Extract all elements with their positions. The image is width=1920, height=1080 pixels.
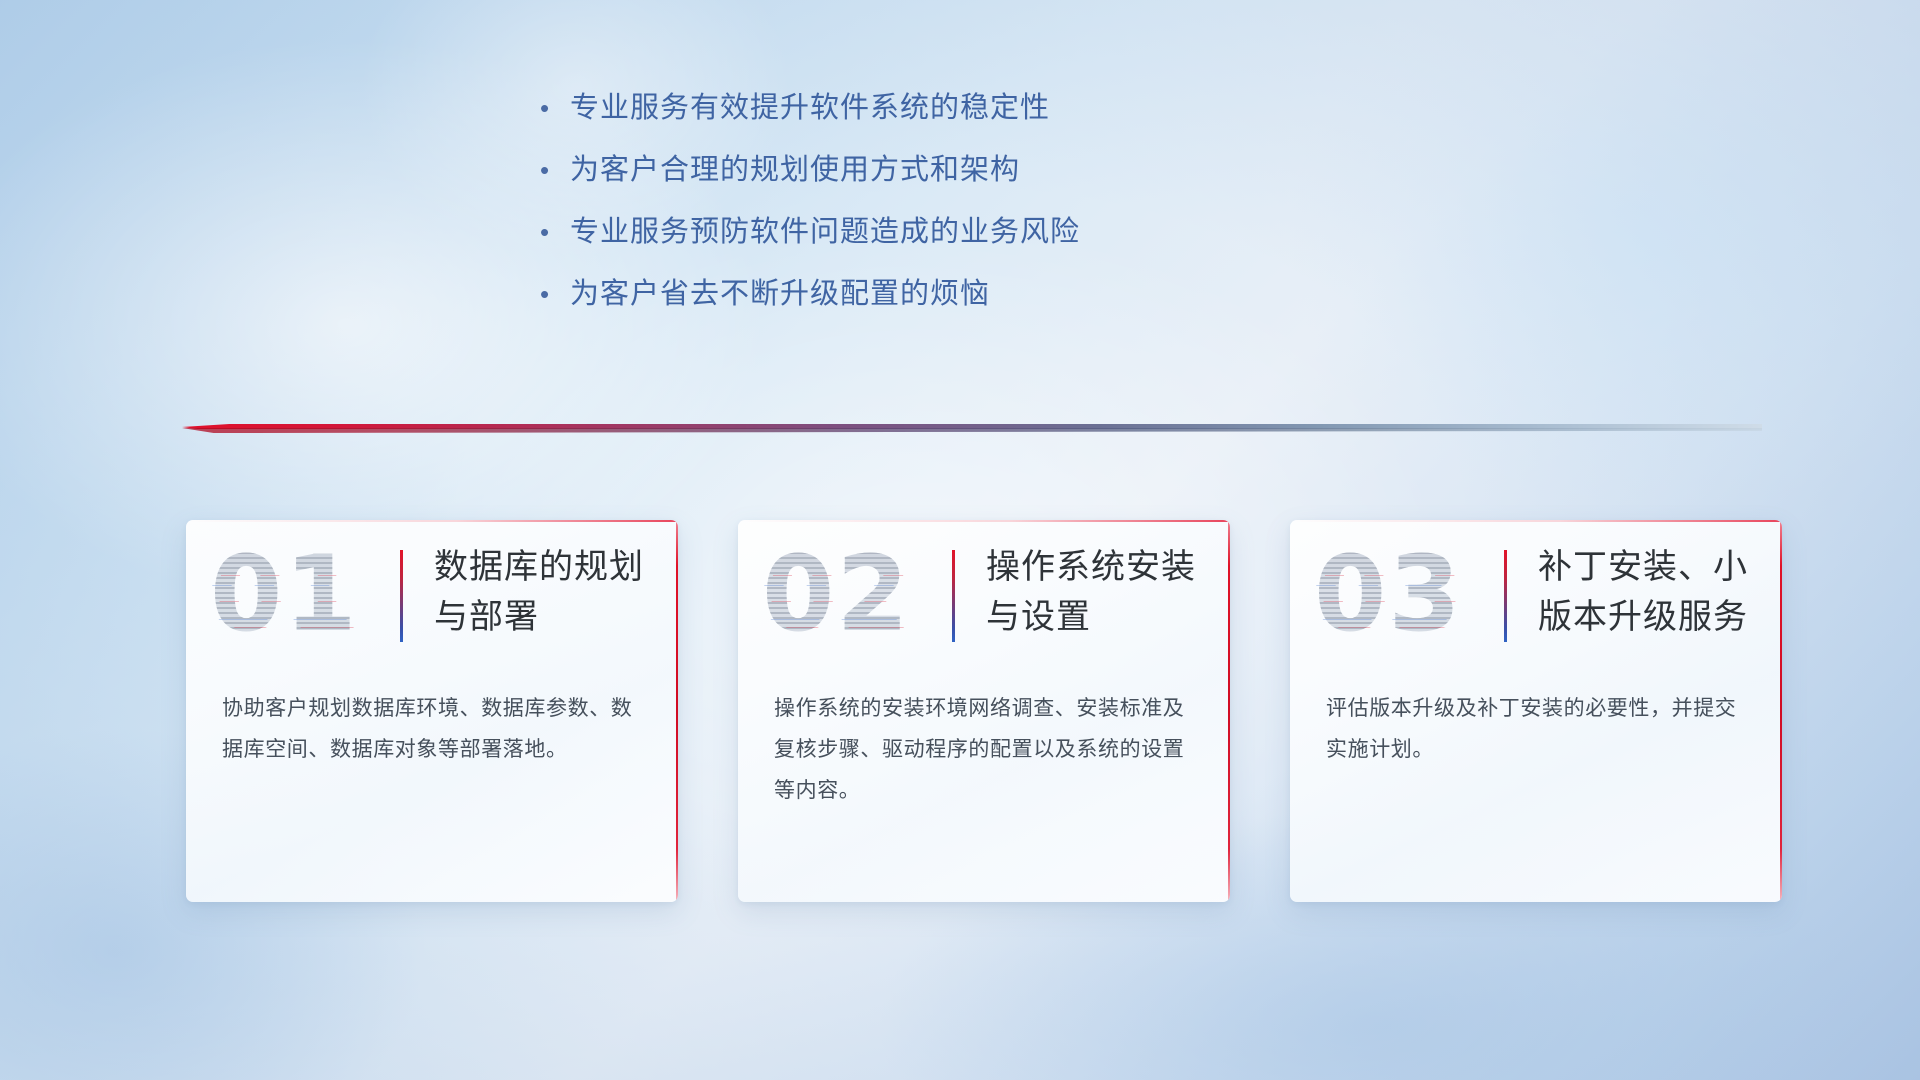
bullet-text: 为客户合理的规划使用方式和架构 (570, 150, 1020, 190)
list-item: • 专业服务有效提升软件系统的稳定性 (540, 88, 1240, 128)
bullet-list: • 专业服务有效提升软件系统的稳定性 • 为客户合理的规划使用方式和架构 • 专… (540, 88, 1240, 336)
list-item: • 为客户省去不断升级配置的烦恼 (540, 274, 1240, 314)
section-divider (182, 424, 1762, 438)
card-header: 01 01 01 数据库的规划 与部署 (186, 520, 678, 670)
card-number-ghost-blue: 02 (759, 534, 908, 654)
bullet-marker-icon: • (540, 88, 570, 128)
card-02[interactable]: 02 02 02 操作系统安装 与设置 操作系统的安装环境网络调查、安装标准及复… (738, 520, 1230, 902)
card-body-text: 操作系统的安装环境网络调查、安装标准及复核步骤、驱动程序的配置以及系统的设置等内… (774, 688, 1194, 811)
list-item: • 为客户合理的规划使用方式和架构 (540, 150, 1240, 190)
card-body-text: 协助客户规划数据库环境、数据库参数、数据库空间、数据库对象等部署落地。 (222, 688, 642, 770)
list-item: • 专业服务预防软件问题造成的业务风险 (540, 212, 1240, 252)
bullet-marker-icon: • (540, 274, 570, 314)
card-title: 数据库的规划 与部署 (434, 542, 652, 642)
card-accent-bar (400, 550, 403, 642)
card-title: 补丁安装、小 版本升级服务 (1538, 542, 1756, 642)
card-title-line-2: 与部署 (434, 592, 652, 642)
card-row: 01 01 01 数据库的规划 与部署 协助客户规划数据库环境、数据库参数、数据… (186, 520, 1782, 902)
bullet-text: 为客户省去不断升级配置的烦恼 (570, 274, 990, 314)
card-number-ghost-blue: 03 (1311, 534, 1460, 654)
bullet-text: 专业服务有效提升软件系统的稳定性 (570, 88, 1050, 128)
card-number-ghost-blue: 01 (207, 534, 356, 654)
divider-stroke-lower (182, 428, 1762, 433)
card-title-line-2: 版本升级服务 (1538, 592, 1756, 642)
card-title-line-1: 数据库的规划 (434, 542, 652, 592)
card-title: 操作系统安装 与设置 (986, 542, 1204, 642)
card-body-text: 评估版本升级及补丁安装的必要性，并提交实施计划。 (1326, 688, 1746, 770)
card-03[interactable]: 03 03 03 补丁安装、小 版本升级服务 评估版本升级及补丁安装的必要性，并… (1290, 520, 1782, 902)
bullet-text: 专业服务预防软件问题造成的业务风险 (570, 212, 1080, 252)
bullet-marker-icon: • (540, 212, 570, 252)
card-accent-bar (1504, 550, 1507, 642)
bullet-marker-icon: • (540, 150, 570, 190)
card-title-line-2: 与设置 (986, 592, 1204, 642)
card-title-line-1: 操作系统安装 (986, 542, 1204, 592)
card-01[interactable]: 01 01 01 数据库的规划 与部署 协助客户规划数据库环境、数据库参数、数据… (186, 520, 678, 902)
card-title-line-1: 补丁安装、小 (1538, 542, 1756, 592)
card-header: 02 02 02 操作系统安装 与设置 (738, 520, 1230, 670)
card-accent-bar (952, 550, 955, 642)
card-header: 03 03 03 补丁安装、小 版本升级服务 (1290, 520, 1782, 670)
